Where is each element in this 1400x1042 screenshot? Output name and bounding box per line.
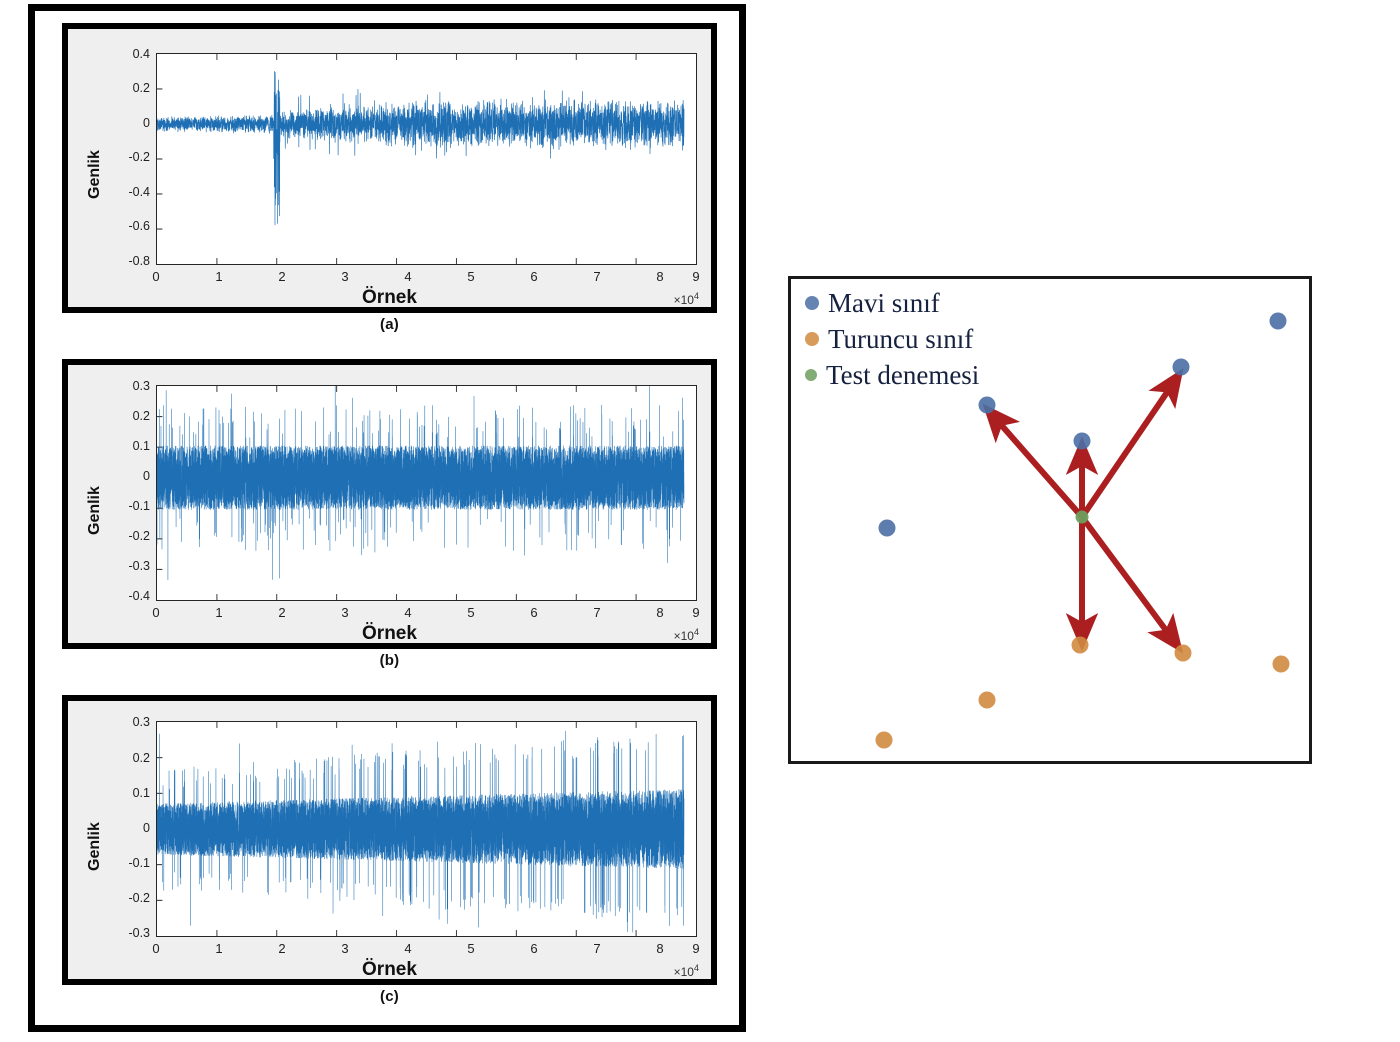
chart-c-xtick-6: 6 — [514, 941, 554, 956]
legend-item-orange-class: Turuncu sınıf — [801, 321, 1061, 357]
chart-a-xtick-8: 8 — [640, 269, 680, 284]
chart-b-ytick-1: 0.2 — [98, 409, 150, 423]
chart-c-xtick-8: 8 — [640, 941, 680, 956]
chart-a-xtick-9: 9 — [676, 269, 716, 284]
chart-a-ytick-6: -0.8 — [98, 254, 150, 268]
chart-b-xtick-0: 0 — [136, 605, 176, 620]
chart-c-ytick-4: -0.1 — [98, 856, 150, 870]
legend-label-blue-class: Mavi sınıf — [828, 290, 940, 317]
chart-a-xtick-0: 0 — [136, 269, 176, 284]
chart-c-ytick-6: -0.3 — [98, 926, 150, 940]
chart-a-frame: Genlik 0.4 0.2 0 -0.2 -0.4 -0.6 -0.8 — [62, 23, 717, 313]
chart-c-xlabel: Örnek — [68, 959, 711, 981]
chart-c-xtick-1: 1 — [199, 941, 239, 956]
chart-b-svg — [157, 386, 696, 600]
chart-c-ytick-3: 0 — [98, 821, 150, 835]
test-sample-point — [1076, 511, 1089, 524]
orange-class-point — [1273, 656, 1290, 673]
chart-a-plot-area — [156, 53, 697, 265]
chart-c-xtick-9: 9 — [676, 941, 716, 956]
chart-b-xtick-6: 6 — [514, 605, 554, 620]
blue-class-point — [1173, 359, 1190, 376]
chart-b-xlabel: Örnek — [68, 623, 711, 645]
signal-figures-panel: Genlik 0.4 0.2 0 -0.2 -0.4 -0.6 -0.8 — [28, 4, 746, 1032]
chart-c-xtick-4: 4 — [388, 941, 428, 956]
legend-label-orange-class: Turuncu sınıf — [828, 326, 973, 353]
legend-marker-orange-class — [805, 332, 819, 346]
chart-c-xtick-5: 5 — [451, 941, 491, 956]
chart-c-plot-area — [156, 721, 697, 937]
chart-b-xtick-2: 2 — [262, 605, 302, 620]
arrow-up-left — [996, 419, 1082, 517]
chart-b-ytick-6: -0.3 — [98, 559, 150, 573]
chart-b-ytick-3: 0 — [98, 469, 150, 483]
blue-class-point — [1270, 313, 1287, 330]
chart-a-xtick-6: 6 — [514, 269, 554, 284]
chart-a-xlabel: Örnek — [68, 287, 711, 309]
chart-b-xtick-9: 9 — [676, 605, 716, 620]
subfigure-c-caption: (c) — [62, 988, 717, 1005]
legend-item-test-sample: Test denemesi — [801, 357, 1061, 393]
arrow-up-right — [1082, 385, 1172, 517]
chart-b-xtick-4: 4 — [388, 605, 428, 620]
subfigure-c: Genlik 0.3 0.2 0.1 0 -0.1 -0.2 -0.3 — [62, 695, 717, 985]
chart-b-xtick-8: 8 — [640, 605, 680, 620]
chart-a-xtick-3: 3 — [325, 269, 365, 284]
chart-c-x-exponent: ×104 — [674, 963, 699, 979]
chart-b-xtick-5: 5 — [451, 605, 491, 620]
subfigure-b-caption: (b) — [62, 652, 717, 669]
legend-item-blue-class: Mavi sınıf — [801, 285, 1061, 321]
chart-a-xtick-1: 1 — [199, 269, 239, 284]
chart-b-ytick-4: -0.1 — [98, 499, 150, 513]
chart-c-xtick-7: 7 — [577, 941, 617, 956]
scatter-legend: Mavi sınıf Turuncu sınıf Test denemesi — [801, 285, 1061, 393]
blue-class-point — [879, 520, 896, 537]
chart-a-xtick-7: 7 — [577, 269, 617, 284]
chart-a-ytick-3: -0.2 — [98, 150, 150, 164]
chart-b-x-exponent: ×104 — [674, 627, 699, 643]
subfigure-a: Genlik 0.4 0.2 0 -0.2 -0.4 -0.6 -0.8 — [62, 23, 717, 313]
orange-class-point — [876, 732, 893, 749]
chart-a-xtick-4: 4 — [388, 269, 428, 284]
chart-a-svg — [157, 54, 696, 264]
chart-a-ticks-inner — [157, 54, 636, 264]
chart-c-frame: Genlik 0.3 0.2 0.1 0 -0.1 -0.2 -0.3 — [62, 695, 717, 985]
chart-b-xtick-3: 3 — [325, 605, 365, 620]
legend-marker-blue-class — [805, 296, 819, 310]
chart-b-xtick-1: 1 — [199, 605, 239, 620]
orange-class-point — [979, 692, 996, 709]
chart-a-ytick-0: 0.4 — [98, 47, 150, 61]
orange-class-point — [1175, 645, 1192, 662]
chart-c-ytick-1: 0.2 — [98, 751, 150, 765]
orange-class-point — [1072, 637, 1089, 654]
chart-a-ytick-2: 0 — [98, 116, 150, 130]
subfigure-a-caption: (a) — [62, 316, 717, 333]
chart-c-xtick-0: 0 — [136, 941, 176, 956]
chart-c-waveform — [157, 731, 684, 933]
chart-c-xtick-2: 2 — [262, 941, 302, 956]
chart-a-xtick-5: 5 — [451, 269, 491, 284]
chart-c-ytick-5: -0.2 — [98, 891, 150, 905]
chart-c-xtick-3: 3 — [325, 941, 365, 956]
chart-a-ytick-5: -0.6 — [98, 219, 150, 233]
chart-b-ytick-0: 0.3 — [98, 379, 150, 393]
blue-class-point — [979, 397, 996, 414]
arrow-down-right — [1082, 517, 1171, 637]
legend-marker-test-sample — [805, 369, 817, 381]
chart-b-xtick-7: 7 — [577, 605, 617, 620]
subfigure-b: Genlik 0.3 0.2 0.1 0 -0.1 -0.2 -0.3 -0.4 — [62, 359, 717, 649]
chart-b-waveform — [157, 386, 684, 580]
chart-a-ytick-4: -0.4 — [98, 185, 150, 199]
chart-a-x-exponent: ×104 — [674, 291, 699, 307]
blue-class-point — [1074, 433, 1091, 450]
chart-c-ytick-2: 0.1 — [98, 786, 150, 800]
chart-a-ytick-1: 0.2 — [98, 81, 150, 95]
chart-b-ytick-5: -0.2 — [98, 529, 150, 543]
chart-b-ytick-7: -0.4 — [98, 589, 150, 603]
chart-c-svg — [157, 722, 696, 936]
knn-scatter-panel: Mavi sınıf Turuncu sınıf Test denemesi — [788, 276, 1312, 764]
chart-a-xtick-2: 2 — [262, 269, 302, 284]
chart-a-waveform — [157, 71, 684, 225]
chart-b-plot-area — [156, 385, 697, 601]
chart-c-ytick-0: 0.3 — [98, 715, 150, 729]
chart-b-frame: Genlik 0.3 0.2 0.1 0 -0.1 -0.2 -0.3 -0.4 — [62, 359, 717, 649]
chart-b-ytick-2: 0.1 — [98, 439, 150, 453]
legend-label-test-sample: Test denemesi — [826, 362, 979, 389]
